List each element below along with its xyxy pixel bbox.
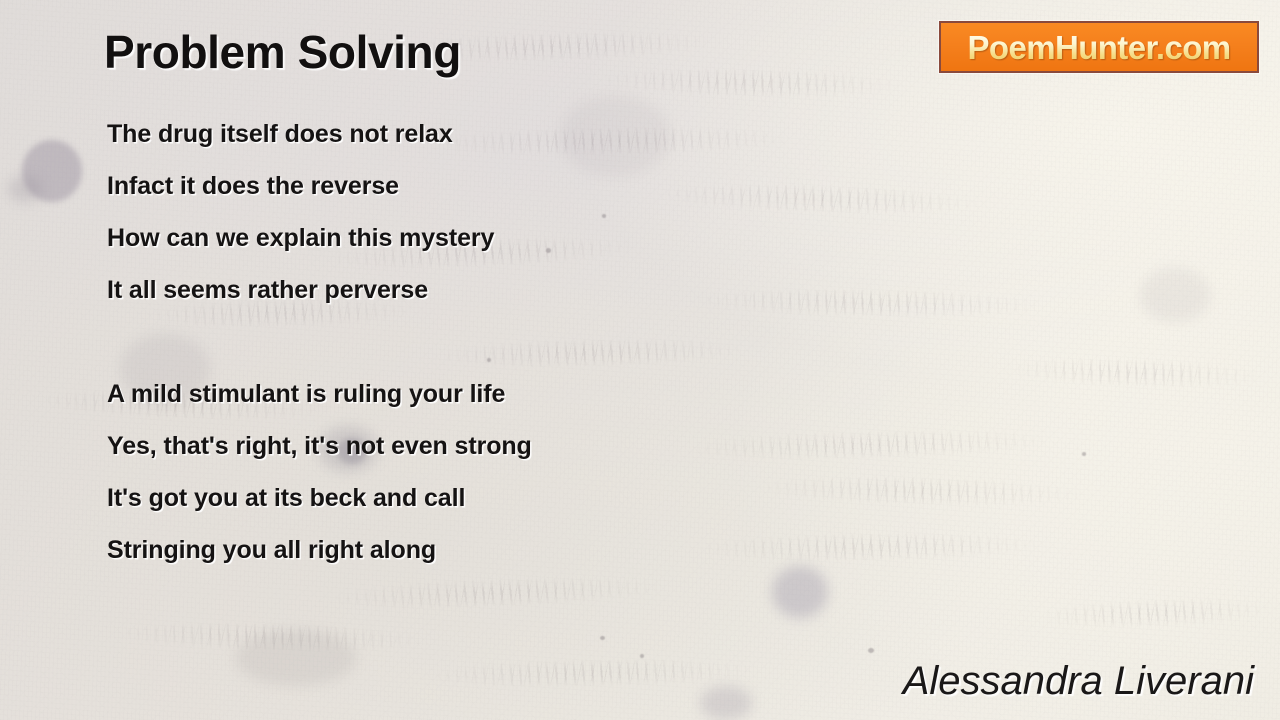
poem-line: Stringing you all right along: [107, 524, 847, 576]
poem-image-card: Problem Solving The drug itself does not…: [0, 0, 1280, 720]
poem-line: A mild stimulant is ruling your life: [107, 368, 847, 420]
poem-line: Infact it does the reverse: [107, 160, 847, 212]
poemhunter-logo-text: PoemHunter.com: [968, 31, 1231, 64]
author-name: Alessandra Liverani: [903, 659, 1254, 704]
page-title: Problem Solving: [104, 25, 461, 79]
poem-line: Yes, that's right, it's not even strong: [107, 420, 847, 472]
poem-body: The drug itself does not relax Infact it…: [107, 108, 847, 576]
poemhunter-logo[interactable]: PoemHunter.com: [939, 21, 1259, 73]
poem-line: It's got you at its beck and call: [107, 472, 847, 524]
poem-line: It all seems rather perverse: [107, 264, 847, 316]
poem-line: The drug itself does not relax: [107, 108, 847, 160]
stanza-separator: [107, 316, 847, 368]
poem-line: How can we explain this mystery: [107, 212, 847, 264]
